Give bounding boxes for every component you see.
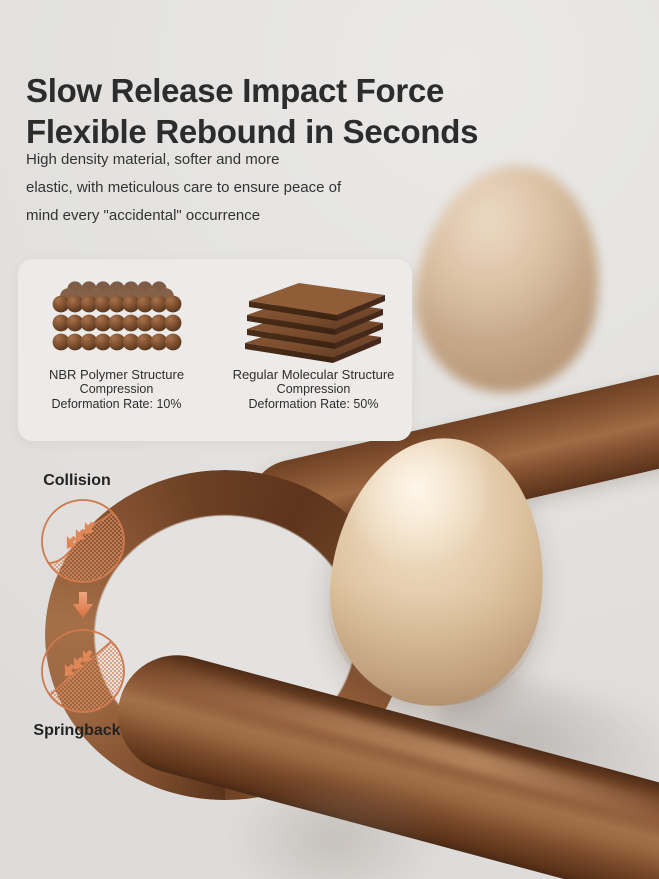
page-title: Slow Release Impact Force Flexible Rebou… <box>26 70 586 152</box>
metric-value: Deformation Rate: 10% <box>49 397 184 412</box>
stacked-plates-svg <box>229 275 399 363</box>
comparison-caption-nbr: NBR Polymer Structure Compression Deform… <box>49 367 184 412</box>
comparison-caption-regular: Regular Molecular Structure Compression … <box>233 367 395 412</box>
stacked-plates-icon <box>229 273 399 365</box>
headline-line-1: Slow Release Impact Force <box>26 72 444 109</box>
comparison-column-regular: Regular Molecular Structure Compression … <box>215 259 412 441</box>
metric-label: Compression <box>49 382 184 397</box>
headline-line-2: Flexible Rebound in Seconds <box>26 113 478 150</box>
page-subcopy: High density material, softer and more e… <box>26 146 426 230</box>
structure-comparison-card: NBR Polymer Structure Compression Deform… <box>18 259 412 441</box>
sphere-lattice-svg <box>41 275 193 363</box>
structure-title: NBR Polymer Structure <box>49 367 184 382</box>
sphere-lattice-icon <box>41 273 193 365</box>
impact-rebound-diagram: Collision <box>18 472 148 740</box>
arrow-down-icon <box>18 590 148 620</box>
dented-circle-icon <box>38 496 128 586</box>
metric-value: Deformation Rate: 50% <box>233 397 395 412</box>
subcopy-line-1: High density material, softer and more <box>26 146 426 174</box>
subcopy-line-2: elastic, with meticulous care to ensure … <box>26 174 426 202</box>
metric-label: Compression <box>233 382 395 397</box>
collision-label: Collision <box>18 472 136 490</box>
page-content: Slow Release Impact Force Flexible Rebou… <box>0 0 659 879</box>
comparison-column-nbr: NBR Polymer Structure Compression Deform… <box>18 259 215 441</box>
product-feature-page: Slow Release Impact Force Flexible Rebou… <box>0 0 659 879</box>
structure-title: Regular Molecular Structure <box>233 367 395 382</box>
springback-label: Springback <box>18 722 136 740</box>
restored-circle-icon <box>38 626 128 716</box>
subcopy-line-3: mind every "accidental" occurrence <box>26 202 426 230</box>
